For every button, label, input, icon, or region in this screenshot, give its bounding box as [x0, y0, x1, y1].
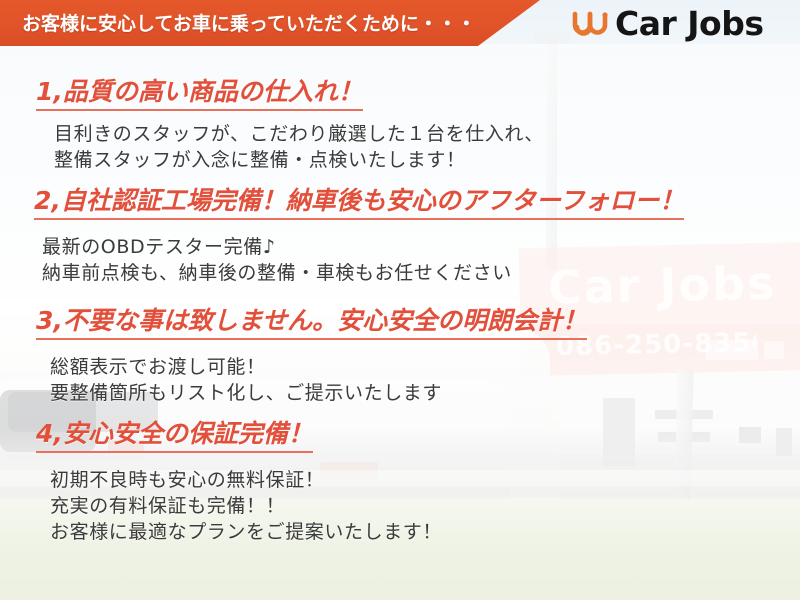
- selling-point-3-line-2: 要整備箇所もリスト化し、ご提示いたします: [50, 380, 800, 406]
- selling-point-3-line-1: 総額表示でお渡し可能！: [50, 354, 800, 380]
- header-bar: お客様に安心してお車に乗っていただくために・・・ Car Jobs: [0, 0, 800, 46]
- selling-point-4: 4,安心安全の保証完備！ 初期不良時も安心の無料保証！ 充実の有料保証も完備！！…: [0, 414, 800, 545]
- selling-point-4-line-3: お客様に最適なプランをご提案いたします！: [50, 519, 800, 545]
- selling-point-4-heading: 4,安心安全の保証完備！: [36, 414, 313, 453]
- car-jobs-monogram-icon: [566, 7, 610, 41]
- selling-point-2-heading: 2,自社認証工場完備！納車後も安心のアフターフォロー！: [34, 181, 684, 220]
- brand-logo-text: Car Jobs: [615, 4, 763, 44]
- selling-point-1-line-1: 目利きのスタッフが、こだわり厳選した１台を仕入れ、: [54, 121, 800, 147]
- brand-logo: Car Jobs: [566, 4, 763, 44]
- selling-point-4-line-1: 初期不良時も安心の無料保証！: [50, 467, 800, 493]
- selling-point-3-body: 総額表示でお渡し可能！ 要整備箇所もリスト化し、ご提示いたします: [50, 354, 800, 406]
- selling-point-3: 3,不要な事は致しません。安心安全の明朗会計！ 総額表示でお渡し可能！ 要整備箇…: [0, 301, 800, 406]
- content-area: 1,品質の高い商品の仕入れ！ 目利きのスタッフが、こだわり厳選した１台を仕入れ、…: [0, 46, 800, 600]
- advertisement-banner: Car Jobs 086-250-8356 お客様に安心してお車に乗っていただく…: [0, 0, 800, 600]
- header-tagline: お客様に安心してお車に乗っていただくために・・・: [22, 9, 476, 36]
- selling-point-2-line-1: 最新のOBDテスター完備♪: [42, 234, 800, 260]
- selling-point-2-body: 最新のOBDテスター完備♪ 納車前点検も、納車後の整備・車検もお任せください: [42, 234, 800, 286]
- selling-point-4-body: 初期不良時も安心の無料保証！ 充実の有料保証も完備！！ お客様に最適なプランをご…: [50, 467, 800, 545]
- selling-point-1: 1,品質の高い商品の仕入れ！ 目利きのスタッフが、こだわり厳選した１台を仕入れ、…: [0, 72, 800, 173]
- selling-point-1-line-2: 整備スタッフが入念に整備・点検いたします！: [54, 147, 800, 173]
- selling-point-2: 2,自社認証工場完備！納車後も安心のアフターフォロー！ 最新のOBDテスター完備…: [0, 181, 800, 286]
- selling-point-2-line-2: 納車前点検も、納車後の整備・車検もお任せください: [42, 260, 800, 286]
- selling-point-1-body: 目利きのスタッフが、こだわり厳選した１台を仕入れ、 整備スタッフが入念に整備・点…: [54, 121, 800, 173]
- selling-point-4-line-2: 充実の有料保証も完備！！: [50, 493, 800, 519]
- selling-point-3-heading: 3,不要な事は致しません。安心安全の明朗会計！: [36, 301, 587, 340]
- selling-point-1-heading: 1,品質の高い商品の仕入れ！: [36, 72, 363, 111]
